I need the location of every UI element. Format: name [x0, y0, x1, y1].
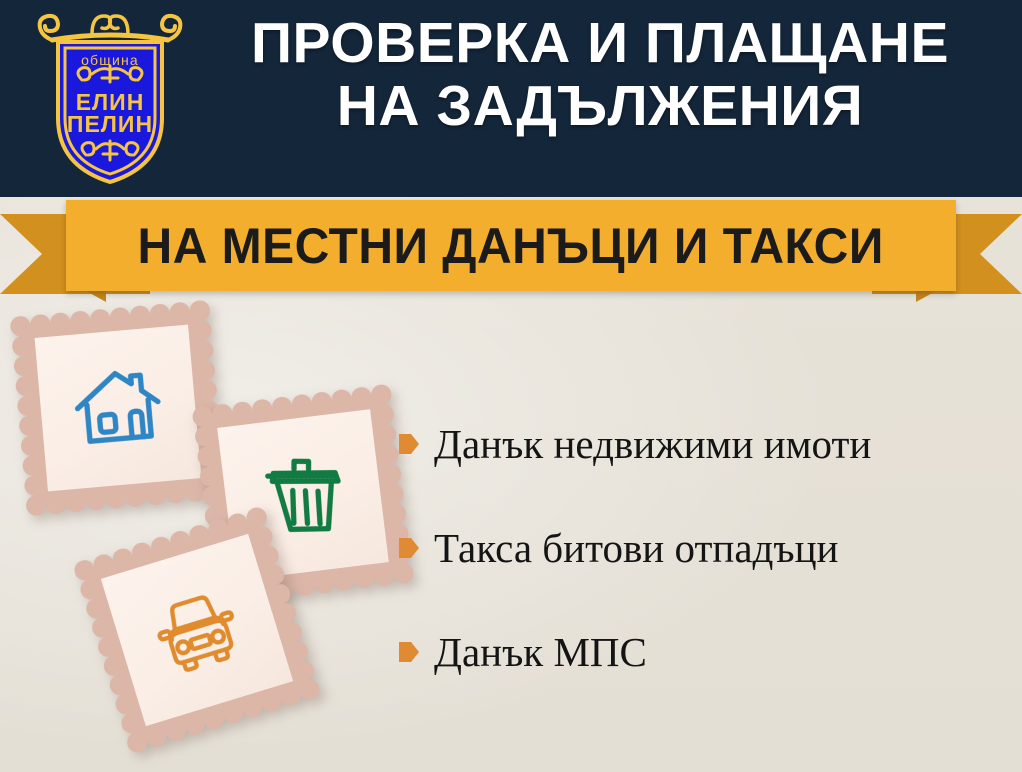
header-band: община ЕЛИН ПЕЛИН: [0, 0, 1022, 197]
list-item: Данък МПС: [398, 626, 1008, 678]
subtitle-ribbon: НА МЕСТНИ ДАНЪЦИ И ТАКСИ: [0, 196, 1022, 308]
ribbon-label: НА МЕСТНИ ДАНЪЦИ И ТАКСИ: [138, 217, 884, 275]
svg-text:ПЕЛИН: ПЕЛИН: [67, 111, 153, 137]
list-item-label: Данък МПС: [434, 632, 647, 673]
list-item: Такса битови отпадъци: [398, 522, 1008, 574]
arrow-pentagon-icon: [398, 535, 420, 561]
arrow-pentagon-icon: [398, 639, 420, 665]
list-item: Данък недвижими имоти: [398, 418, 1008, 470]
house-icon: [35, 325, 202, 492]
list-item-label: Данък недвижими имоти: [434, 424, 871, 465]
elin-pelin-coat-of-arms-icon: община ЕЛИН ПЕЛИН: [30, 8, 190, 188]
stamp-collage: [0, 300, 430, 772]
poster-canvas: община ЕЛИН ПЕЛИН: [0, 0, 1022, 772]
list-item-label: Такса битови отпадъци: [434, 528, 838, 569]
tax-type-list: Данък недвижими имоти Такса битови отпад…: [398, 418, 1008, 678]
poster-title-line-2: НА ЗАДЪЛЖЕНИЯ: [190, 77, 1010, 136]
poster-title-line-1: ПРОВЕРКА И ПЛАЩАНЕ: [190, 14, 1010, 73]
poster-title: ПРОВЕРКА И ПЛАЩАНЕ НА ЗАДЪЛЖЕНИЯ: [190, 14, 1010, 135]
ribbon-face: НА МЕСТНИ ДАНЪЦИ И ТАКСИ: [66, 200, 956, 291]
arrow-pentagon-icon: [398, 431, 420, 457]
